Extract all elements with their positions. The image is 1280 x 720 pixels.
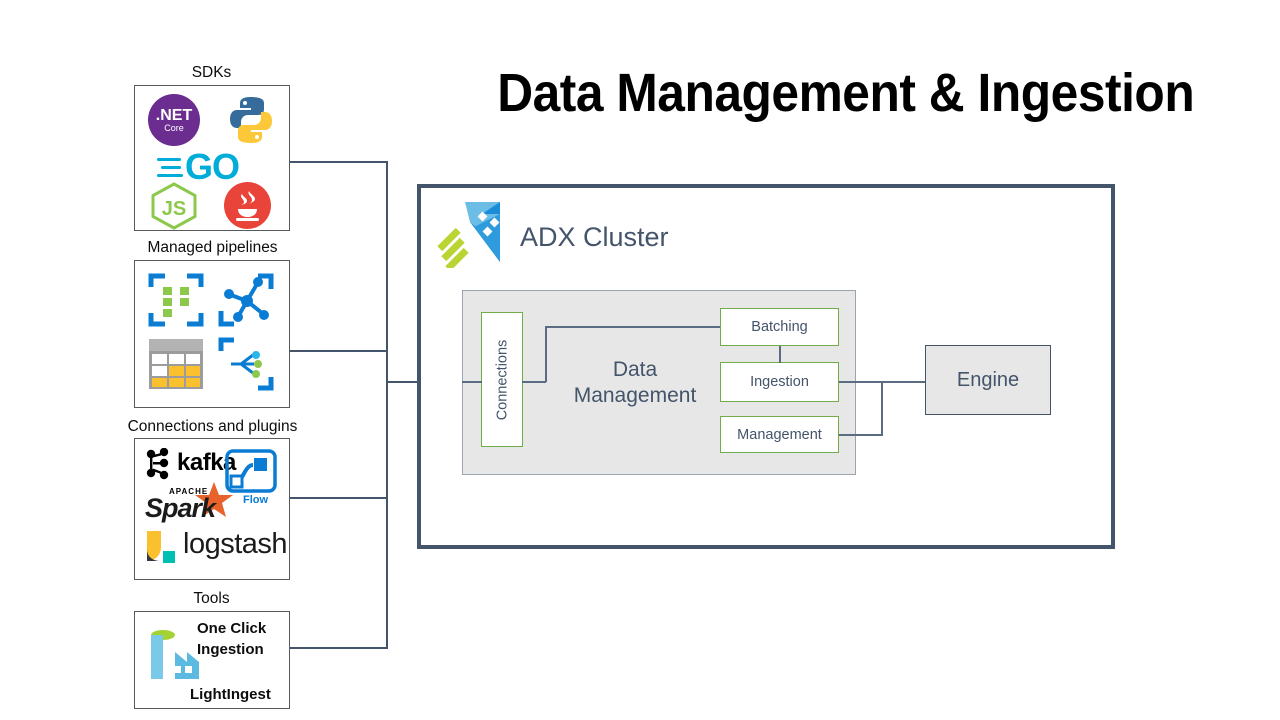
connector-trunk-to-cluster	[386, 381, 419, 383]
management-box[interactable]: Management	[720, 416, 839, 453]
connector-management-riser	[881, 381, 883, 435]
event-grid-icon	[147, 271, 205, 329]
dotnet-core-icon: .NET Core	[148, 94, 200, 146]
connections-label: Connections	[494, 339, 510, 420]
batching-box[interactable]: Batching	[720, 308, 839, 346]
apache-spark-icon: APACHE Spark	[145, 485, 255, 531]
group-label-managed-pipelines: Managed pipelines	[120, 239, 305, 257]
diagram-canvas: Data Management & Ingestion SDKs .NET Co…	[0, 0, 1280, 720]
group-label-sdks: SDKs	[134, 64, 289, 82]
connector-batching-to-ingestion	[779, 346, 781, 363]
data-management-line1: Data	[540, 357, 730, 383]
batching-label: Batching	[751, 319, 807, 335]
managed-pipelines-box[interactable]	[134, 260, 290, 408]
one-click-label-line2: Ingestion	[197, 640, 264, 660]
connector-riser-to-batching	[545, 326, 547, 382]
page-title: Data Management & Ingestion	[497, 62, 1123, 124]
java-icon	[224, 182, 271, 229]
connector-trunk	[386, 161, 388, 649]
one-click-label-line1: One Click	[197, 619, 266, 639]
ingestion-box[interactable]: Ingestion	[720, 362, 839, 402]
connector-connections-right	[522, 381, 546, 383]
connector-managed-pipelines	[290, 350, 388, 352]
connector-sdks	[290, 161, 388, 163]
nodejs-icon: JS	[149, 182, 199, 230]
data-management-label: Data Management	[540, 357, 730, 409]
iot-hub-icon	[217, 335, 275, 393]
tools-box[interactable]: One Click Ingestion LightIngest	[134, 611, 290, 709]
connections-and-plugins-box[interactable]: kafka Flow APACHE Spark	[134, 438, 290, 580]
connector-connections-plugins	[290, 497, 388, 499]
adx-logo-icon	[434, 200, 502, 268]
logstash-icon: logstash	[143, 527, 288, 571]
management-label: Management	[737, 427, 822, 443]
engine-box[interactable]: Engine	[925, 345, 1051, 415]
event-hub-icon	[217, 271, 275, 329]
go-icon: GO	[157, 148, 269, 186]
ingestion-label: Ingestion	[750, 374, 809, 390]
connections-box[interactable]: Connections	[481, 312, 523, 447]
lightingest-label: LightIngest	[190, 685, 271, 705]
engine-label: Engine	[957, 369, 1019, 392]
connector-panel-to-connections	[462, 381, 482, 383]
sdks-box[interactable]: .NET Core GO JS	[134, 85, 290, 231]
go-label: GO	[185, 148, 239, 186]
connector-tools	[290, 647, 388, 649]
python-icon	[225, 94, 277, 146]
connector-to-batching	[545, 326, 721, 328]
dotnet-label: .NET	[156, 108, 192, 123]
data-management-line2: Management	[540, 383, 730, 409]
spark-label: Spark	[145, 493, 215, 524]
adx-cluster-title: ADX Cluster	[520, 222, 669, 253]
connector-management-right	[839, 434, 883, 436]
svg-text:JS: JS	[162, 198, 186, 220]
logstash-label: logstash	[183, 528, 287, 561]
group-label-tools: Tools	[134, 590, 289, 608]
group-label-connections-and-plugins: Connections and plugins	[110, 418, 315, 436]
data-table-icon	[147, 335, 205, 393]
dotnet-core-sublabel: Core	[164, 123, 184, 133]
